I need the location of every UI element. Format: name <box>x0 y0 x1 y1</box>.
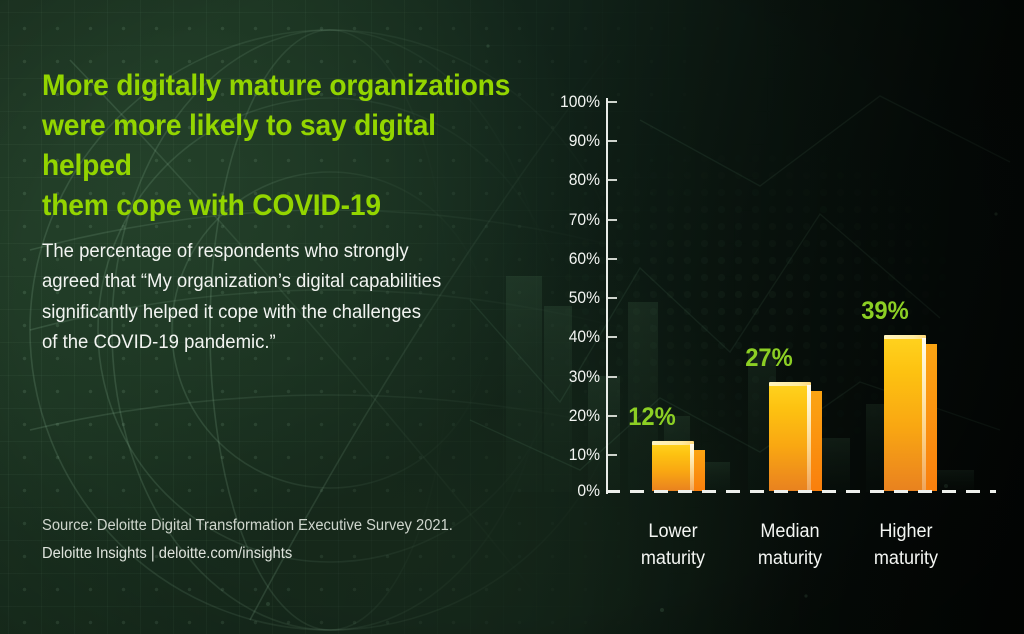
y-axis-tick-0: 0% <box>546 481 600 501</box>
y-axis-label-90: 90% <box>556 131 600 151</box>
x-axis-label-median: Median maturity <box>724 519 857 573</box>
y-axis-tick-100: 100% <box>546 92 600 112</box>
bar-chart: 100% 90% 80% 70% 60% 50% 40% 30% 20% 10% <box>0 0 1024 634</box>
y-axis-tick-10: 10% <box>546 445 600 465</box>
y-axis-tick-30: 30% <box>546 367 600 387</box>
y-axis-label-50: 50% <box>556 288 600 308</box>
bar-value-label-lower: 12% <box>609 403 695 432</box>
y-axis-tick-70: 70% <box>546 210 600 230</box>
y-axis-label-30: 30% <box>556 367 600 387</box>
infographic-canvas: More digitally mature organizations were… <box>0 0 1024 634</box>
bar-rect-median[interactable] <box>769 385 811 491</box>
y-axis-tick-20: 20% <box>546 406 600 426</box>
y-axis-label-0: 0% <box>556 481 600 501</box>
y-axis-tick-50: 50% <box>546 288 600 308</box>
y-axis-label-60: 60% <box>556 249 600 269</box>
zero-baseline-dashed <box>606 490 996 493</box>
x-axis-label-higher: Higher maturity <box>840 519 973 573</box>
y-axis-label-70: 70% <box>556 210 600 230</box>
y-axis-tick-80: 80% <box>546 170 600 190</box>
x-axis-label-lower: Lower maturity <box>607 519 740 573</box>
bar-value-label-median: 27% <box>726 344 812 373</box>
y-axis-label-100: 100% <box>556 92 600 112</box>
y-axis-tick-40: 40% <box>546 327 600 347</box>
bar-value-label-higher: 39% <box>842 297 928 326</box>
y-axis-tick-60: 60% <box>546 249 600 269</box>
y-axis-label-10: 10% <box>556 445 600 465</box>
bar-rect-lower[interactable] <box>652 444 694 491</box>
y-axis-label-80: 80% <box>556 170 600 190</box>
y-axis-tick-90: 90% <box>546 131 600 151</box>
bar-rect-higher[interactable] <box>884 338 926 491</box>
y-axis-label-20: 20% <box>556 406 600 426</box>
y-axis-label-40: 40% <box>556 327 600 347</box>
y-axis-line <box>606 98 608 494</box>
